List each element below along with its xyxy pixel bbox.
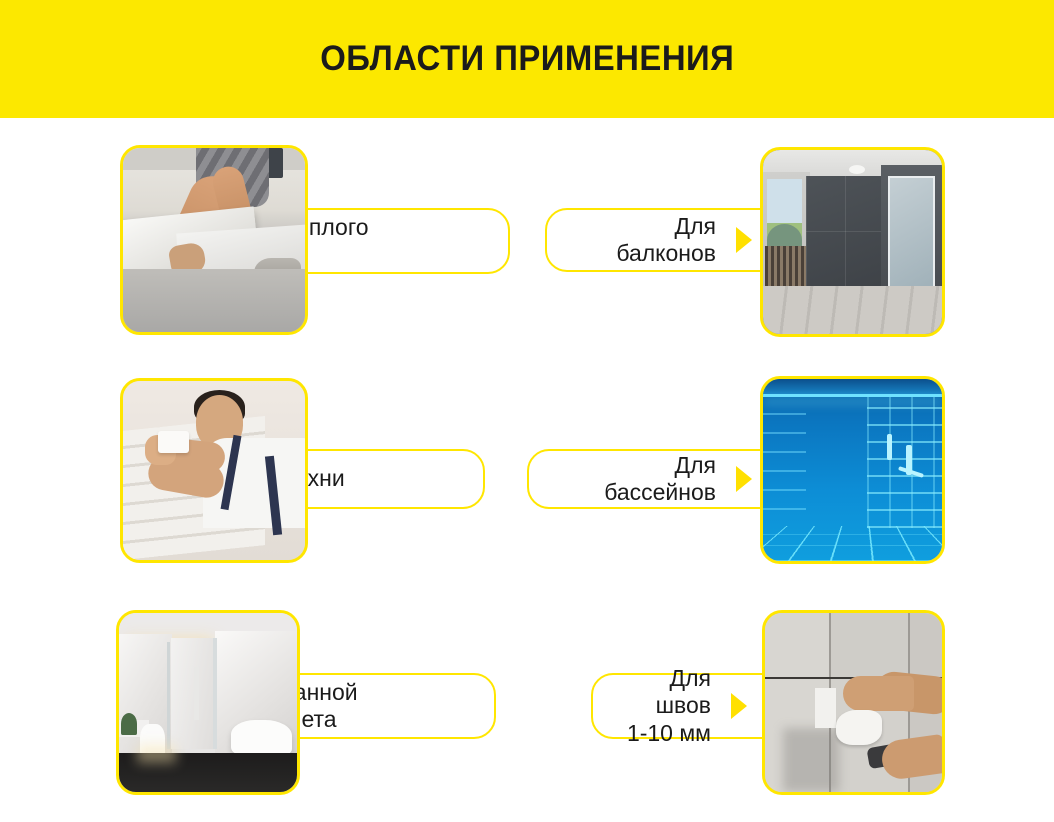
photo-card-balconies[interactable] [760,147,945,337]
photo-card-pools[interactable] [760,376,945,564]
label-text-pools: Для бассейнов [559,452,716,506]
label-pill-balconies[interactable]: Для балконов [545,208,770,272]
page-header-banner: ОБЛАСТИ ПРИМЕНЕНИЯ [0,0,1054,118]
arrow-right-icon [736,227,752,253]
photo-card-warm-floor[interactable] [120,145,308,335]
page-title: ОБЛАСТИ ПРИМЕНЕНИЯ [320,39,734,79]
underfloor-heating-board-install-photo [123,148,305,332]
balcony-interior-photo [763,150,942,334]
photo-card-joints[interactable] [762,610,945,795]
arrow-right-icon [736,466,752,492]
photo-card-bathroom[interactable] [116,610,300,795]
label-pill-pools[interactable]: Для бассейнов [527,449,770,509]
kitchen-wall-tiling-photo [123,381,305,560]
tile-grouting-photo [765,613,942,792]
swimming-pool-underwater-photo [763,379,942,561]
bathroom-marble-interior-photo [119,613,297,792]
label-text-balconies: Для балконов [577,213,716,267]
label-text-joints: Для швов 1-10 мм [623,665,711,746]
arrow-right-icon [731,693,747,719]
photo-card-kitchen[interactable] [120,378,308,563]
label-pill-joints[interactable]: Для швов 1-10 мм [591,673,765,739]
applications-grid: Для теплого пола Для балконов [0,118,1054,822]
